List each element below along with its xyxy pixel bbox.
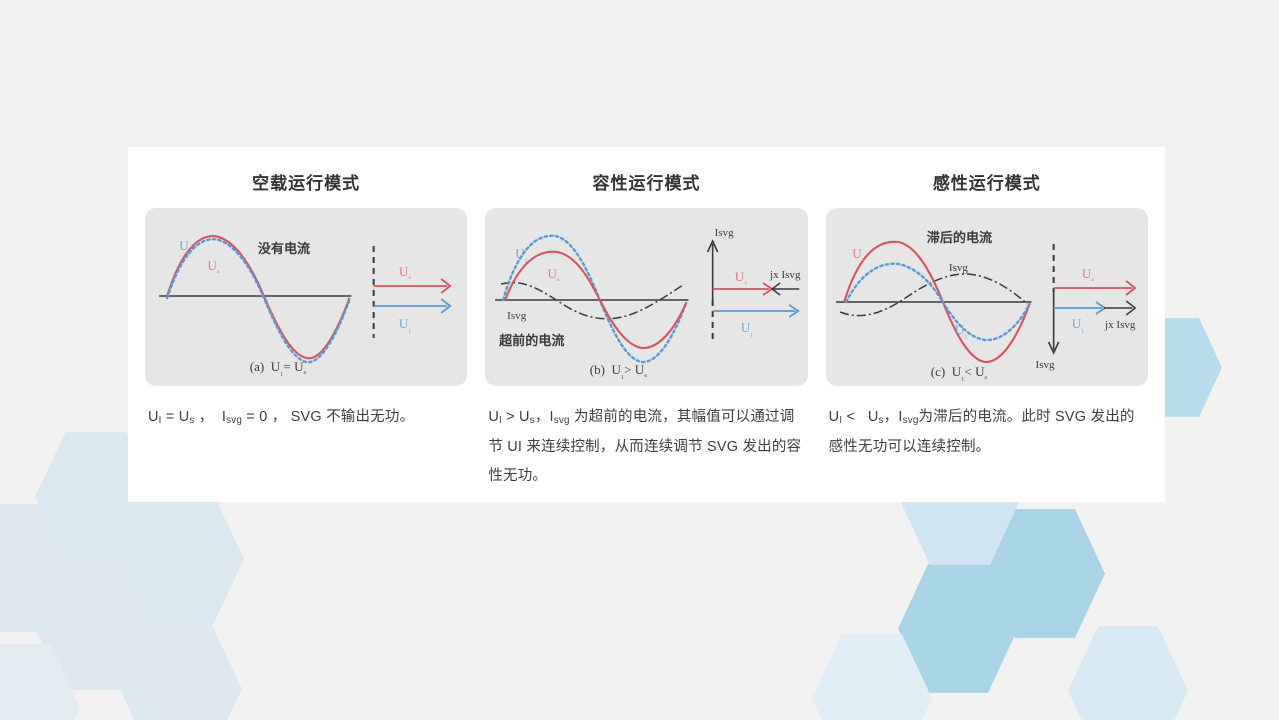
content-card: 空载运行模式 U₁ Uₛ 没有电流 xyxy=(128,147,1165,502)
hexagon-decor xyxy=(1068,622,1188,720)
panel-title-capacitive: 容性运行模式 xyxy=(592,169,700,194)
caption-inductive: UI < Us，Isvg为滞后的电流。此时 SVG 发出的感性无功可以连续控制。 xyxy=(826,403,1148,462)
figure-subcaption-inductive: (c) U₁< Uₛ xyxy=(930,364,987,381)
caption-text-no-load: UI = Us ， Isvg = 0 ， SVG 不输出无功。 xyxy=(148,409,414,425)
label-isvg-wave: Isvg xyxy=(507,310,527,322)
panels-row: 空载运行模式 U₁ Uₛ 没有电流 xyxy=(128,147,1165,502)
figure-svg-no-load: U₁ Uₛ 没有电流 Uₛ U₁ (a) U₁= Uₛ xyxy=(145,208,467,386)
figure-capacitive: U₁ Uₛ Isvg 超前的电流 Isvg Uₛ xyxy=(485,208,807,386)
label-leading-current: 超前的电流 xyxy=(499,333,564,348)
figure-svg-capacitive: U₁ Uₛ Isvg 超前的电流 Isvg Uₛ xyxy=(485,208,807,386)
figure-inductive: Uₛ U₁ Isvg 滞后的电流 Isvg Uₛ xyxy=(826,208,1148,386)
panel-capacitive: 容性运行模式 U₁ Uₛ Isvg 超前的电流 xyxy=(476,157,816,502)
caption-no-load: UI = Us ， Isvg = 0 ， SVG 不输出无功。 xyxy=(145,403,467,433)
panel-inductive: 感性运行模式 Uₛ U₁ Isvg 滞后的电流 xyxy=(817,157,1157,502)
phasor-label-us: Uₛ xyxy=(399,264,412,281)
caption-text-capacitive: UI > Us，Isvg 为超前的电流，其幅值可以通过调节 UI 来连续控制，从… xyxy=(488,409,801,484)
label-u1: U₁ xyxy=(179,238,192,255)
phasor-label-jx-isvg: jx Isvg xyxy=(1104,319,1136,331)
caption-capacitive: UI > Us，Isvg 为超前的电流，其幅值可以通过调节 UI 来连续控制，从… xyxy=(485,403,807,491)
label-us: Uₛ xyxy=(207,258,220,275)
phasor-label-us: Uₛ xyxy=(735,269,748,286)
figure-svg-inductive: Uₛ U₁ Isvg 滞后的电流 Isvg Uₛ xyxy=(826,208,1148,386)
label-isvg-wave: Isvg xyxy=(949,262,969,274)
label-us: Uₛ xyxy=(852,246,865,263)
phasor-label-u1: U₁ xyxy=(1071,316,1084,333)
phasor-label-isvg: Isvg xyxy=(1035,359,1055,371)
panel-no-load: 空载运行模式 U₁ Uₛ 没有电流 xyxy=(136,157,476,502)
label-u1: U₁ xyxy=(955,322,968,339)
phasor-label-isvg: Isvg xyxy=(715,227,735,239)
label-lagging-current: 滞后的电流 xyxy=(926,230,991,245)
panel-title-no-load: 空载运行模式 xyxy=(252,169,360,194)
figure-subcaption-no-load: (a) U₁= Uₛ xyxy=(250,359,307,376)
caption-text-inductive: UI < Us，Isvg为滞后的电流。此时 SVG 发出的感性无功可以连续控制。 xyxy=(829,409,1135,455)
phasor-label-jx-isvg: jx Isvg xyxy=(769,269,801,281)
phasor-label-us: Uₛ xyxy=(1082,266,1095,283)
phasor-label-u1: U₁ xyxy=(399,316,412,333)
panel-title-inductive: 感性运行模式 xyxy=(933,169,1041,194)
figure-subcaption-capacitive: (b) U₁> Uₛ xyxy=(590,362,648,379)
waveform-u1-curve xyxy=(167,239,349,362)
label-us: Uₛ xyxy=(548,266,561,283)
phasor-label-u1: U₁ xyxy=(741,320,754,337)
figure-no-load: U₁ Uₛ 没有电流 Uₛ U₁ (a) U₁= Uₛ xyxy=(145,208,467,386)
label-no-current: 没有电流 xyxy=(258,241,310,256)
